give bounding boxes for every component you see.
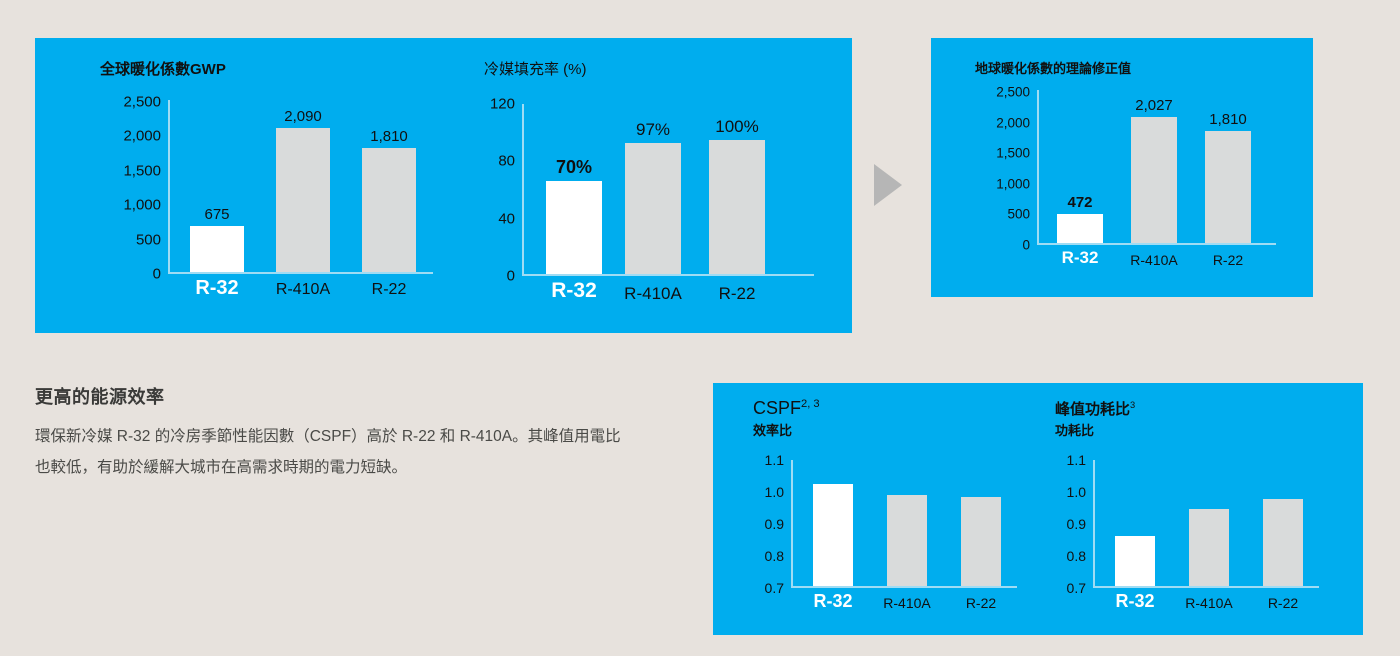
bar-r410a: R-410A [887,495,927,586]
chart-cspf-subtitle: 效率比 [753,420,792,439]
chart-peak-power-ytick: 0.8 [1067,548,1086,564]
chart-charge-ytick: 120 [490,96,515,113]
chart-cspf: CSPF2, 3 效率比 1.1 1.0 0.9 0.8 0.7 R-32 R-… [753,398,1053,623]
bar-value-r22: 100% [715,117,758,137]
chart-peak-power-ytick: 1.1 [1067,452,1086,468]
chart-cspf-y-axis [791,460,793,588]
bar-value-r32: 675 [204,206,229,223]
chart-gwp-plot: 2,500 2,000 1,500 1,000 500 0 675 R-32 2… [168,100,433,274]
chart-cspf-ytick: 0.9 [765,516,784,532]
chart-charge-ytick: 40 [498,210,515,227]
bar-label-r32: R-32 [195,277,238,300]
chart-gwp-ytick: 500 [136,231,161,248]
chart-gwp-corrected-ytick: 1,000 [996,176,1030,191]
bar-value-r410a: 97% [636,120,670,140]
bar-r22: 1,810 R-22 [1205,131,1251,243]
chart-cspf-title-text: CSPF [753,398,801,418]
bar-label-r32: R-32 [813,591,852,612]
chart-gwp-corrected-plot: 2,500 2,000 1,500 1,000 500 0 472 R-32 2… [1037,90,1276,245]
bar-label-r32: R-32 [1115,591,1154,612]
chart-gwp-title: 全球暖化係數GWP [100,58,226,79]
chart-cspf-ytick: 0.7 [765,580,784,596]
bar-r410a: 2,090 R-410A [276,128,330,272]
bar-value-r410a: 2,090 [284,108,322,125]
chart-cspf-title-superscript: 2, 3 [801,398,820,410]
chart-charge-title: 冷媒填充率 (%) [484,58,587,79]
bar-r32: 70% R-32 [546,181,602,274]
chart-cspf-ytick: 1.0 [765,484,784,500]
chart-gwp-ytick: 0 [153,266,161,283]
bar-value-r32: 70% [556,157,592,178]
bar-label-r32: R-32 [551,279,597,303]
chart-gwp-corrected-x-axis [1037,243,1276,245]
chart-peak-power-title-superscript: 3 [1130,400,1135,410]
bar-label-r410a: R-410A [276,281,330,299]
chart-peak-power-y-axis [1093,460,1095,588]
energy-efficiency-text: 更高的能源效率 環保新冷媒 R-32 的冷房季節性能因數（CSPF）高於 R-2… [35,383,655,483]
bar-label-r410a: R-410A [1185,595,1232,611]
chart-charge-plot: 120 80 40 0 70% R-32 97% R-410A 100% R-2… [522,104,814,276]
chart-peak-power-ytick: 0.7 [1067,580,1086,596]
bar-value-r22: 1,810 [370,128,408,145]
chart-gwp-ytick: 1,500 [123,162,161,179]
bar-r22: 100% R-22 [709,140,765,274]
chart-peak-power: 峰值功耗比3 功耗比 1.1 1.0 0.9 0.8 0.7 R-32 R-41… [1055,398,1355,623]
chart-gwp-corrected-ytick: 500 [1007,207,1030,222]
chart-gwp-corrected: 地球暖化係數的理論修正值 2,500 2,000 1,500 1,000 500… [975,58,1295,283]
chart-gwp-x-axis [168,272,433,274]
chart-gwp-ytick: 2,000 [123,128,161,145]
chart-peak-power-subtitle: 功耗比 [1055,420,1094,439]
bar-label-r32: R-32 [1062,248,1099,268]
chart-gwp-corrected-ytick: 0 [1022,238,1030,253]
bar-label-r22: R-22 [719,284,756,304]
play-triangle-right-icon [874,164,902,206]
chart-charge-ytick: 80 [498,153,515,170]
bar-value-r410a: 2,027 [1135,97,1173,114]
bar-label-r410a: R-410A [624,284,682,304]
bar-r32: R-32 [1115,536,1155,586]
bar-r410a: 2,027 R-410A [1131,117,1177,243]
chart-charge: 冷媒填充率 (%) 120 80 40 0 70% R-32 97% R-410… [484,58,814,308]
bar-r22: R-22 [1263,499,1303,586]
chart-peak-power-title-text: 峰值功耗比 [1055,401,1130,418]
chart-gwp-corrected-y-axis [1037,90,1039,245]
bar-label-r410a: R-410A [883,595,930,611]
chart-gwp-ytick: 1,000 [123,197,161,214]
chart-peak-power-ytick: 0.9 [1067,516,1086,532]
chart-gwp-y-axis [168,100,170,274]
bar-label-r22: R-22 [1268,595,1298,611]
chart-cspf-ytick: 0.8 [765,548,784,564]
bar-label-r22: R-22 [1213,252,1243,268]
bar-label-r22: R-22 [966,595,996,611]
chart-charge-y-axis [522,104,524,276]
bar-r32: R-32 [813,484,853,586]
chart-peak-power-ytick: 1.0 [1067,484,1086,500]
chart-charge-x-axis [522,274,814,276]
chart-peak-power-x-axis [1093,586,1319,588]
section-body: 環保新冷媒 R-32 的冷房季節性能因數（CSPF）高於 R-22 和 R-41… [35,421,635,483]
bar-value-r22: 1,810 [1209,111,1247,128]
chart-peak-power-title: 峰值功耗比3 [1055,398,1135,419]
chart-gwp-corrected-ytick: 1,500 [996,146,1030,161]
bar-r410a: R-410A [1189,509,1229,586]
chart-cspf-plot: 1.1 1.0 0.9 0.8 0.7 R-32 R-410A R-22 [791,460,1017,588]
chart-cspf-x-axis [791,586,1017,588]
chart-peak-power-plot: 1.1 1.0 0.9 0.8 0.7 R-32 R-410A R-22 [1093,460,1319,588]
chart-charge-ytick: 0 [507,268,515,285]
chart-gwp-corrected-ytick: 2,500 [996,85,1030,100]
bar-label-r22: R-22 [372,281,407,299]
bar-r32: 472 R-32 [1057,214,1103,243]
chart-gwp-corrected-title: 地球暖化係數的理論修正值 [975,58,1131,77]
bar-r22: R-22 [961,497,1001,586]
section-heading: 更高的能源效率 [35,383,655,409]
bar-r410a: 97% R-410A [625,143,681,274]
chart-cspf-ytick: 1.1 [765,452,784,468]
bar-r32: 675 R-32 [190,226,244,272]
bar-label-r410a: R-410A [1130,252,1177,268]
chart-cspf-title: CSPF2, 3 [753,398,820,419]
bar-value-r32: 472 [1067,194,1092,211]
chart-gwp: 全球暖化係數GWP 2,500 2,000 1,500 1,000 500 0 … [100,58,440,308]
chart-gwp-corrected-ytick: 2,000 [996,115,1030,130]
bar-r22: 1,810 R-22 [362,148,416,272]
chart-gwp-ytick: 2,500 [123,94,161,111]
